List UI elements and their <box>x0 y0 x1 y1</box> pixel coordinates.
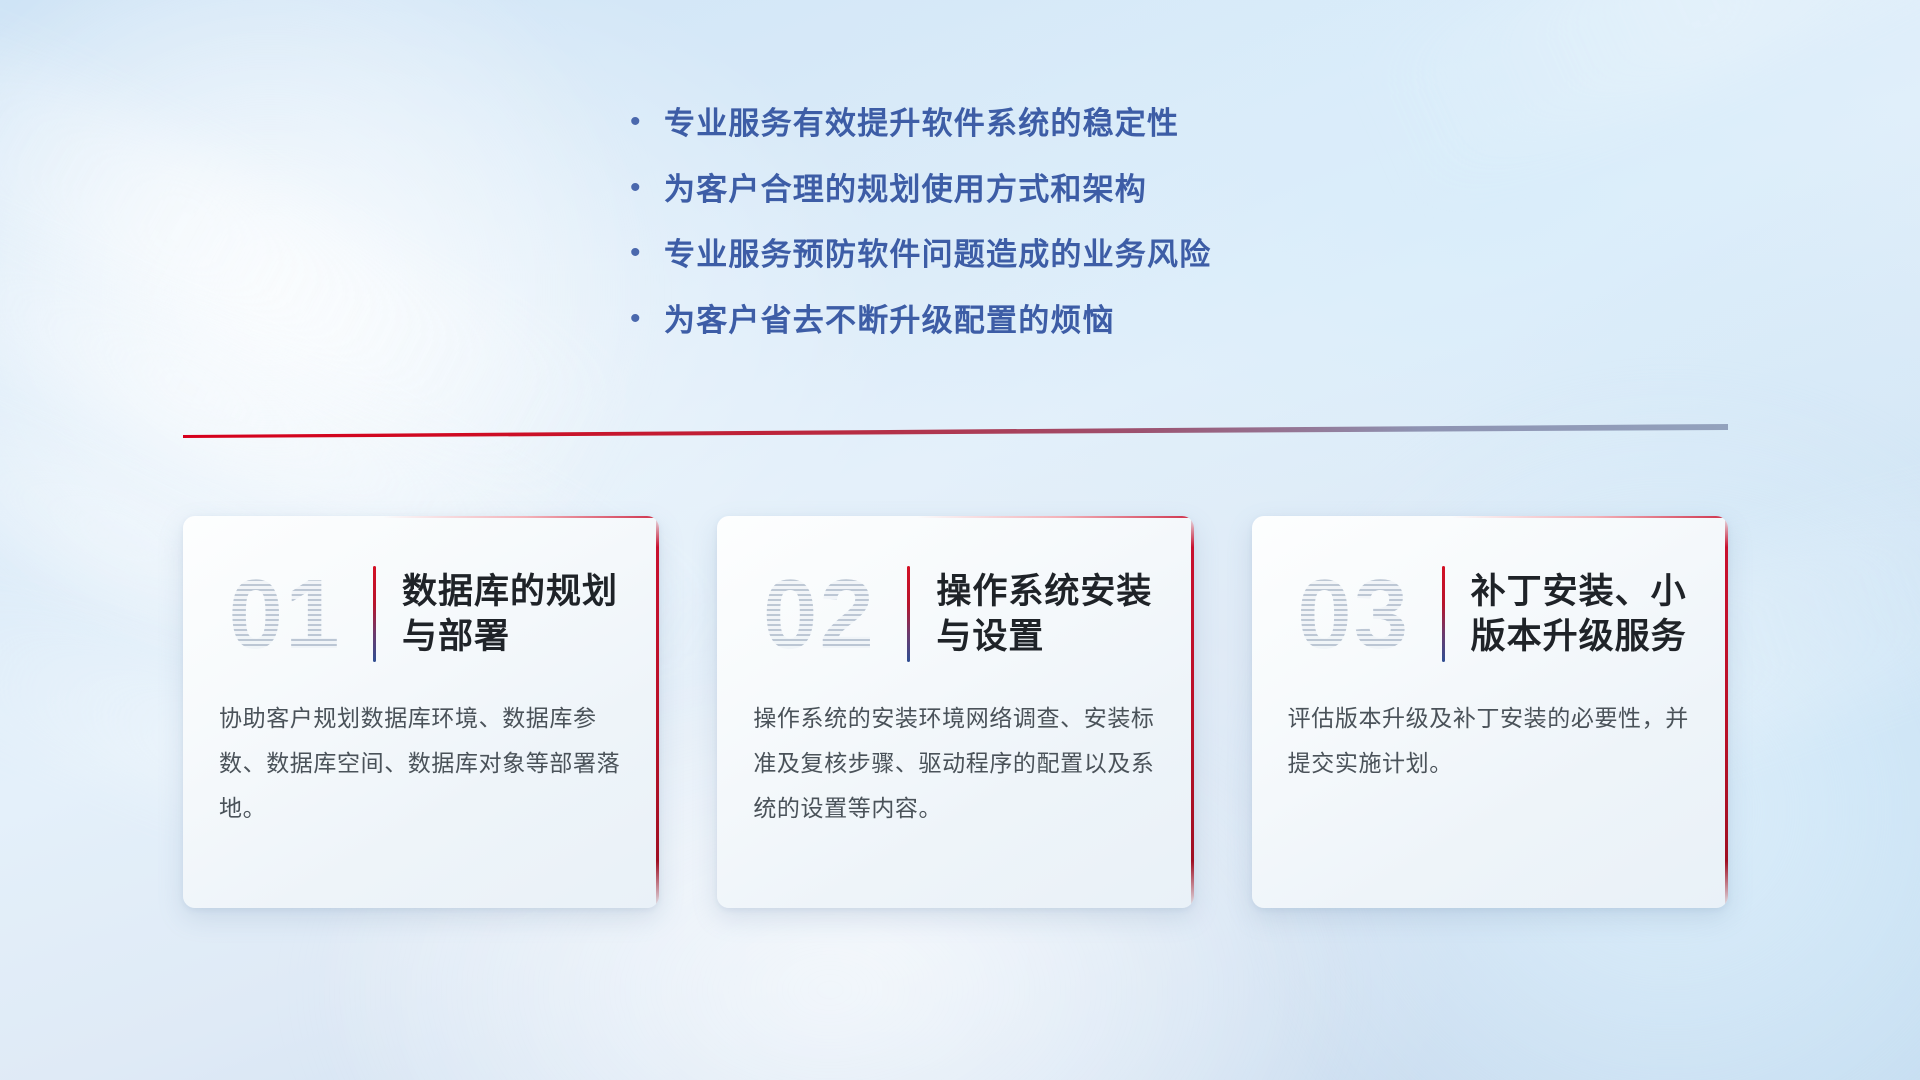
card-divider-bar <box>373 566 376 662</box>
card-title: 数据库的规划与部署 <box>402 569 625 660</box>
card-title: 补丁安装、小版本升级服务 <box>1471 569 1694 660</box>
card-header: 03 补丁安装、小版本升级服务 <box>1252 516 1728 686</box>
card-header: 01 数据库的规划与部署 <box>183 516 659 686</box>
section-divider <box>183 424 1728 438</box>
list-item: • 专业服务预防软件问题造成的业务风险 <box>630 235 1290 275</box>
bullet-dot-icon: • <box>630 107 664 137</box>
bullet-dot-icon: • <box>630 173 664 203</box>
card-header: 02 操作系统安装与设置 <box>717 516 1193 686</box>
card-divider-bar <box>907 566 910 662</box>
card-body-text: 操作系统的安装环境网络调查、安装标准及复核步骤、驱动程序的配置以及系统的设置等内… <box>717 686 1193 831</box>
bullet-text: 为客户合理的规划使用方式和架构 <box>664 170 1147 210</box>
card-number-watermark: 03 <box>1270 554 1438 674</box>
service-card-02[interactable]: 02 操作系统安装与设置 操作系统的安装环境网络调查、安装标准及复核步骤、驱动程… <box>717 516 1193 908</box>
service-cards: 01 数据库的规划与部署 协助客户规划数据库环境、数据库参数、数据库空间、数据库… <box>183 516 1728 908</box>
card-body-text: 评估版本升级及补丁安装的必要性，并提交实施计划。 <box>1252 686 1728 786</box>
bullet-dot-icon: • <box>630 304 664 334</box>
list-item: • 专业服务有效提升软件系统的稳定性 <box>630 104 1290 144</box>
bullet-text: 专业服务预防软件问题造成的业务风险 <box>664 235 1211 275</box>
card-divider-bar <box>1442 566 1445 662</box>
benefits-bullet-list: • 专业服务有效提升软件系统的稳定性 • 为客户合理的规划使用方式和架构 • 专… <box>0 104 1920 341</box>
card-number-watermark: 02 <box>735 554 903 674</box>
bullet-text: 专业服务有效提升软件系统的稳定性 <box>664 104 1179 144</box>
list-item: • 为客户省去不断升级配置的烦恼 <box>630 301 1290 341</box>
bullet-text: 为客户省去不断升级配置的烦恼 <box>664 301 1115 341</box>
card-title: 操作系统安装与设置 <box>936 569 1159 660</box>
card-body-text: 协助客户规划数据库环境、数据库参数、数据库空间、数据库对象等部署落地。 <box>183 686 659 831</box>
service-card-01[interactable]: 01 数据库的规划与部署 协助客户规划数据库环境、数据库参数、数据库空间、数据库… <box>183 516 659 908</box>
list-item: • 为客户合理的规划使用方式和架构 <box>630 170 1290 210</box>
bullet-dot-icon: • <box>630 238 664 268</box>
service-card-03[interactable]: 03 补丁安装、小版本升级服务 评估版本升级及补丁安装的必要性，并提交实施计划。 <box>1252 516 1728 908</box>
card-number-watermark: 01 <box>201 554 369 674</box>
